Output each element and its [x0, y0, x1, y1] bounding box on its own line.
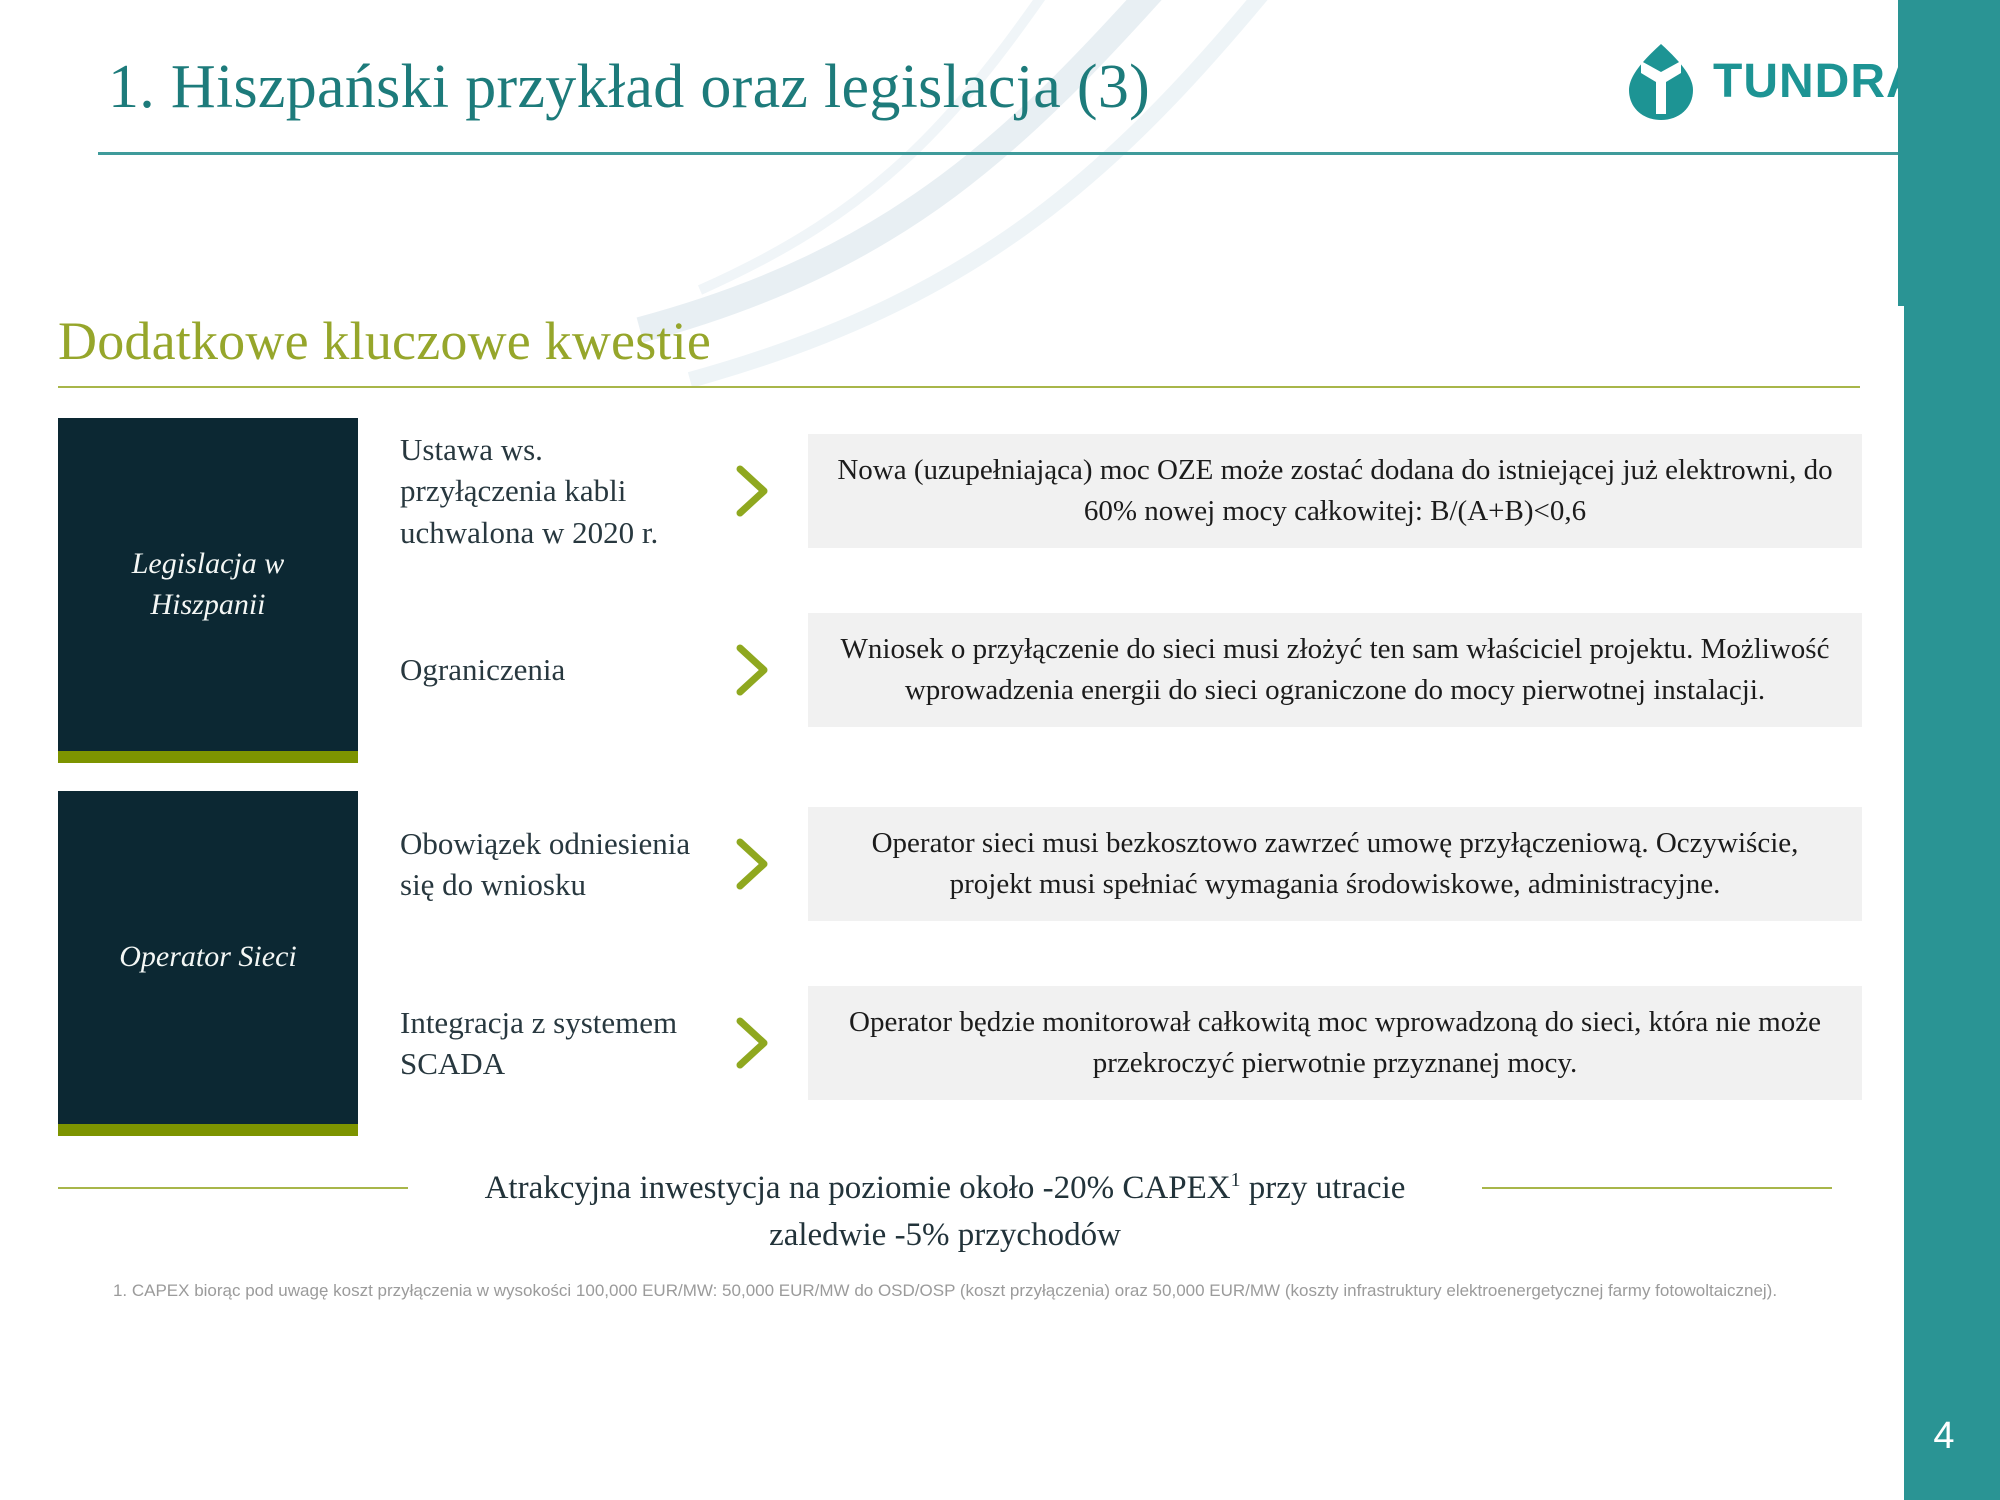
- row-text: Operator sieci musi bezkosztowo zawrzeć …: [808, 807, 1862, 921]
- conclusion-text: Atrakcyjna inwestycja na poziomie około …: [434, 1165, 1456, 1259]
- category-label: Operator Sieci: [119, 937, 296, 978]
- group-operator-sieci: Operator Sieci Obowiązek odniesienia się…: [0, 791, 1890, 1136]
- row-label: Integracja z systemem SCADA: [358, 1002, 698, 1084]
- group-rows: Obowiązek odniesienia się do wniosku Ope…: [358, 791, 1890, 1136]
- conclusion-line-2: przy utracie: [1240, 1170, 1405, 1206]
- slide: 4 1. Hiszpański przykład oraz legislacja…: [0, 0, 2000, 1500]
- sidebar-accent-main: [1904, 306, 2000, 1500]
- section-divider: [58, 386, 1860, 388]
- chevron-right-icon: [698, 463, 808, 519]
- content-row: Ustawa ws. przyłączenia kabli uchwalona …: [358, 426, 1890, 556]
- row-label: Obowiązek odniesienia się do wniosku: [358, 823, 698, 905]
- conclusion-line-1: Atrakcyjna inwestycja na poziomie około …: [485, 1170, 1231, 1206]
- header-divider: [98, 152, 1898, 155]
- conclusion-superscript: 1: [1231, 1169, 1241, 1191]
- category-label: Legislacja w Hiszpanii: [76, 544, 340, 625]
- chevron-right-icon: [698, 836, 808, 892]
- section-heading: Dodatkowe kluczowe kwestie: [58, 310, 711, 372]
- row-text: Operator będzie monitorował całkowitą mo…: [808, 986, 1862, 1100]
- sidebar-accent-top: [1898, 0, 2000, 306]
- footnote: 1. CAPEX biorąc pod uwagę koszt przyłącz…: [0, 1280, 1890, 1302]
- chevron-right-icon: [698, 642, 808, 698]
- brand-logo-text: TUNDRA: [1713, 58, 1922, 106]
- conclusion-line-3: zaledwie -5% przychodów: [769, 1217, 1121, 1253]
- chevron-right-icon: [698, 1015, 808, 1071]
- content-row: Ograniczenia Wniosek o przyłączenie do s…: [358, 605, 1890, 735]
- category-box: Legislacja w Hiszpanii: [58, 418, 358, 763]
- tundra-leaf-logo-icon: [1625, 42, 1697, 122]
- conclusion-rule-left: [58, 1187, 408, 1189]
- content-area: Legislacja w Hiszpanii Ustawa ws. przyłą…: [0, 418, 1890, 1136]
- brand-logo: TUNDRA: [1625, 42, 1922, 122]
- category-box: Operator Sieci: [58, 791, 358, 1136]
- row-text: Wniosek o przyłączenie do sieci musi zło…: [808, 613, 1862, 727]
- group-rows: Ustawa ws. przyłączenia kabli uchwalona …: [358, 418, 1890, 763]
- conclusion-rule-right: [1482, 1187, 1832, 1189]
- row-label: Ustawa ws. przyłączenia kabli uchwalona …: [358, 429, 698, 553]
- content-row: Obowiązek odniesienia się do wniosku Ope…: [358, 799, 1890, 929]
- group-legislacja: Legislacja w Hiszpanii Ustawa ws. przyłą…: [0, 418, 1890, 763]
- row-label: Ograniczenia: [358, 649, 698, 690]
- content-row: Integracja z systemem SCADA Operator będ…: [358, 978, 1890, 1108]
- row-text: Nowa (uzupełniająca) moc OZE może zostać…: [808, 434, 1862, 548]
- conclusion-banner: Atrakcyjna inwestycja na poziomie około …: [0, 1165, 1890, 1259]
- page-number: 4: [1904, 1415, 1984, 1458]
- page-title: 1. Hiszpański przykład oraz legislacja (…: [108, 52, 1150, 123]
